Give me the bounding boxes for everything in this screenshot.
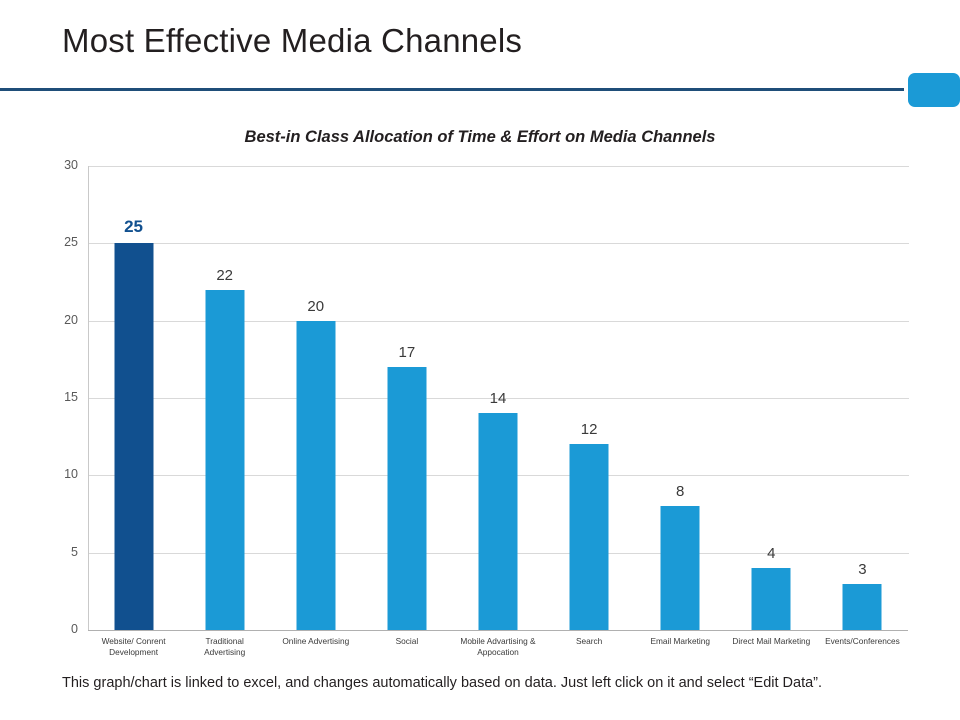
bar-series: 252220171412843 — [88, 166, 908, 630]
bar-value-label: 20 — [307, 298, 324, 315]
divider-accent-tab — [908, 73, 960, 107]
bar[interactable] — [843, 584, 882, 630]
slide: Most Effective Media Channels Best-in Cl… — [0, 0, 960, 720]
bar-slot: 22 — [179, 166, 270, 630]
bar[interactable] — [296, 321, 335, 630]
bar-slot: 17 — [361, 166, 452, 630]
bar-value-label: 3 — [858, 561, 866, 578]
bar-value-label: 8 — [676, 483, 684, 500]
bar-slot: 25 — [88, 166, 179, 630]
y-axis-tick-label: 30 — [8, 158, 78, 172]
bar-slot: 20 — [270, 166, 361, 630]
bar[interactable] — [661, 506, 700, 630]
bar-value-label: 4 — [767, 545, 775, 562]
y-axis-tick-label: 20 — [8, 313, 78, 327]
bar[interactable] — [752, 568, 791, 630]
category-label: Mobile Advartising &Appocation — [446, 636, 549, 657]
chart-title: Best-in Class Allocation of Time & Effor… — [0, 128, 960, 147]
y-axis-tick-label: 5 — [8, 545, 78, 559]
x-axis-category-labels: Website/ ConrentDevelopmentTraditionalAd… — [88, 636, 908, 670]
category-label: Online Advertising — [264, 636, 367, 647]
category-label: TraditionalAdvertising — [173, 636, 276, 657]
chart-footnote: This graph/chart is linked to excel, and… — [62, 675, 922, 691]
bar[interactable] — [570, 444, 609, 630]
y-axis-tick-label: 10 — [8, 467, 78, 481]
title-divider — [0, 88, 904, 91]
x-axis-line — [88, 630, 908, 631]
y-axis-tick-label: 15 — [8, 390, 78, 404]
bar-slot: 14 — [452, 166, 543, 630]
bar-slot: 4 — [726, 166, 817, 630]
category-label: Search — [538, 636, 641, 647]
bar-slot: 8 — [635, 166, 726, 630]
bar[interactable] — [205, 290, 244, 630]
y-axis-tick-label: 0 — [8, 622, 78, 636]
bar-value-label: 22 — [216, 267, 233, 284]
bar-value-label: 25 — [124, 217, 143, 237]
category-label: Direct Mail Marketing — [720, 636, 823, 647]
bar[interactable] — [387, 367, 426, 630]
category-label: Website/ ConrentDevelopment — [82, 636, 185, 657]
bar-slot: 3 — [817, 166, 908, 630]
y-axis-tick-label: 25 — [8, 235, 78, 249]
bar[interactable] — [478, 413, 517, 630]
page-title: Most Effective Media Channels — [62, 22, 522, 60]
bar[interactable] — [114, 243, 153, 630]
category-label: Social — [355, 636, 458, 647]
category-label: Events/Conferences — [811, 636, 914, 647]
bar-value-label: 12 — [581, 421, 598, 438]
bar-value-label: 17 — [399, 344, 416, 361]
bar-slot: 12 — [544, 166, 635, 630]
category-label: Email Marketing — [629, 636, 732, 647]
bar-value-label: 14 — [490, 390, 507, 407]
